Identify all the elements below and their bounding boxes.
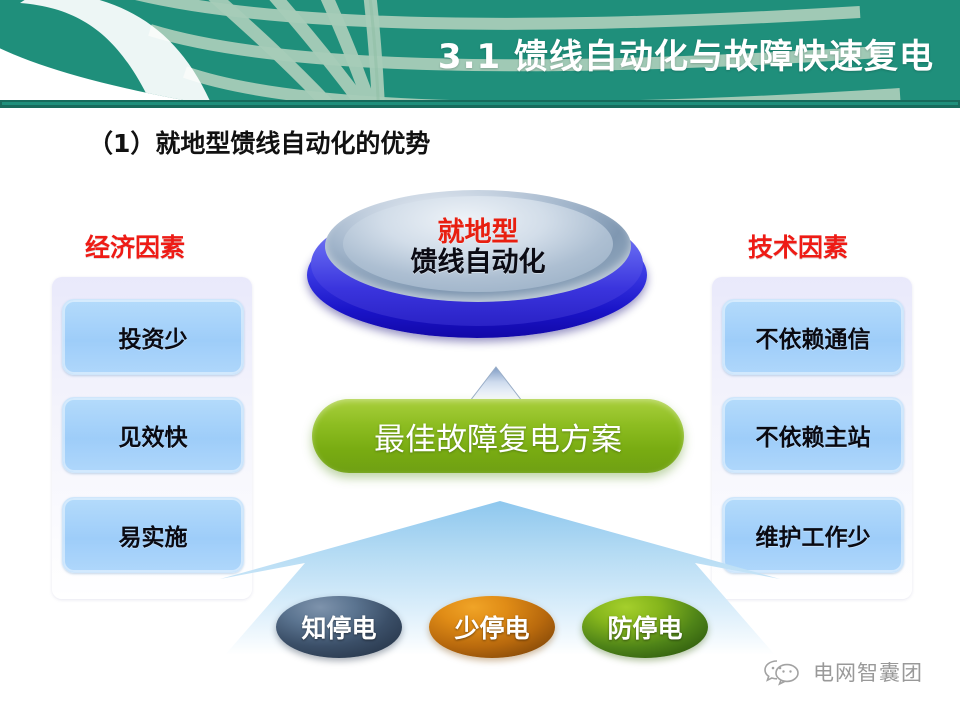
up-triangle-icon xyxy=(469,366,523,402)
watermark-text: 电网智囊团 xyxy=(813,657,923,687)
left-factor-label: 见效快 xyxy=(119,418,188,452)
outcome-oval[interactable]: 防停电 xyxy=(582,596,708,658)
left-factor-label: 投资少 xyxy=(119,320,188,354)
left-factor-item[interactable]: 投资少 xyxy=(62,299,244,375)
outcome-label: 知停电 xyxy=(301,609,376,645)
slide-header: 3.1 馈线自动化与故障快速复电 xyxy=(0,0,960,101)
central-disc: 就地型 馈线自动化 xyxy=(303,188,653,353)
left-factor-label: 易实施 xyxy=(119,518,188,552)
page-title: 3.1 馈线自动化与故障快速复电 xyxy=(438,40,934,74)
header-divider-inner xyxy=(2,102,958,105)
wechat-bubbles-icon xyxy=(762,657,804,687)
right-factor-item[interactable]: 不依赖通信 xyxy=(722,299,904,375)
outcome-oval[interactable]: 少停电 xyxy=(429,596,555,658)
left-column-heading: 经济因素 xyxy=(85,228,185,264)
header-divider xyxy=(0,100,960,108)
right-column-heading: 技术因素 xyxy=(748,228,848,264)
disc-text-group: 就地型 馈线自动化 xyxy=(325,194,631,302)
outcome-label: 防停电 xyxy=(607,609,682,645)
watermark: 电网智囊团 xyxy=(762,657,923,687)
outcome-label: 少停电 xyxy=(454,609,529,645)
green-banner-label: 最佳故障复电方案 xyxy=(374,414,622,459)
right-factor-label: 不依赖通信 xyxy=(756,320,871,354)
disc-title-secondary: 馈线自动化 xyxy=(411,249,546,277)
left-factor-item[interactable]: 见效快 xyxy=(62,397,244,473)
right-factor-label: 不依赖主站 xyxy=(756,418,871,452)
right-factor-item[interactable]: 不依赖主站 xyxy=(722,397,904,473)
section-subtitle: （1）就地型馈线自动化的优势 xyxy=(88,124,430,160)
green-solution-banner[interactable]: 最佳故障复电方案 xyxy=(312,399,684,473)
outcome-oval[interactable]: 知停电 xyxy=(276,596,402,658)
disc-title-primary: 就地型 xyxy=(438,219,519,247)
slide-root: 3.1 馈线自动化与故障快速复电 （1）就地型馈线自动化的优势 经济因素 投资少… xyxy=(0,0,960,720)
